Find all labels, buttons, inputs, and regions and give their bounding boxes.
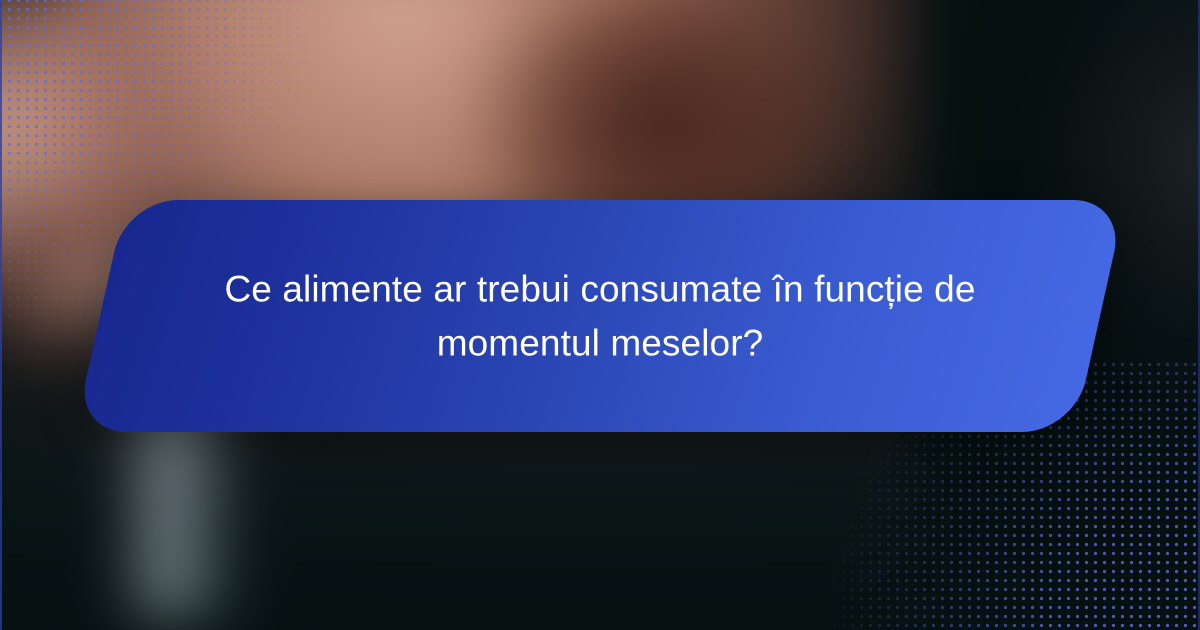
headline-plaque: Ce alimente ar trebui consumate în funcț… <box>100 200 1100 432</box>
social-share-card: Ce alimente ar trebui consumate în funcț… <box>0 0 1200 630</box>
page-title: Ce alimente ar trebui consumate în funcț… <box>160 262 1040 369</box>
